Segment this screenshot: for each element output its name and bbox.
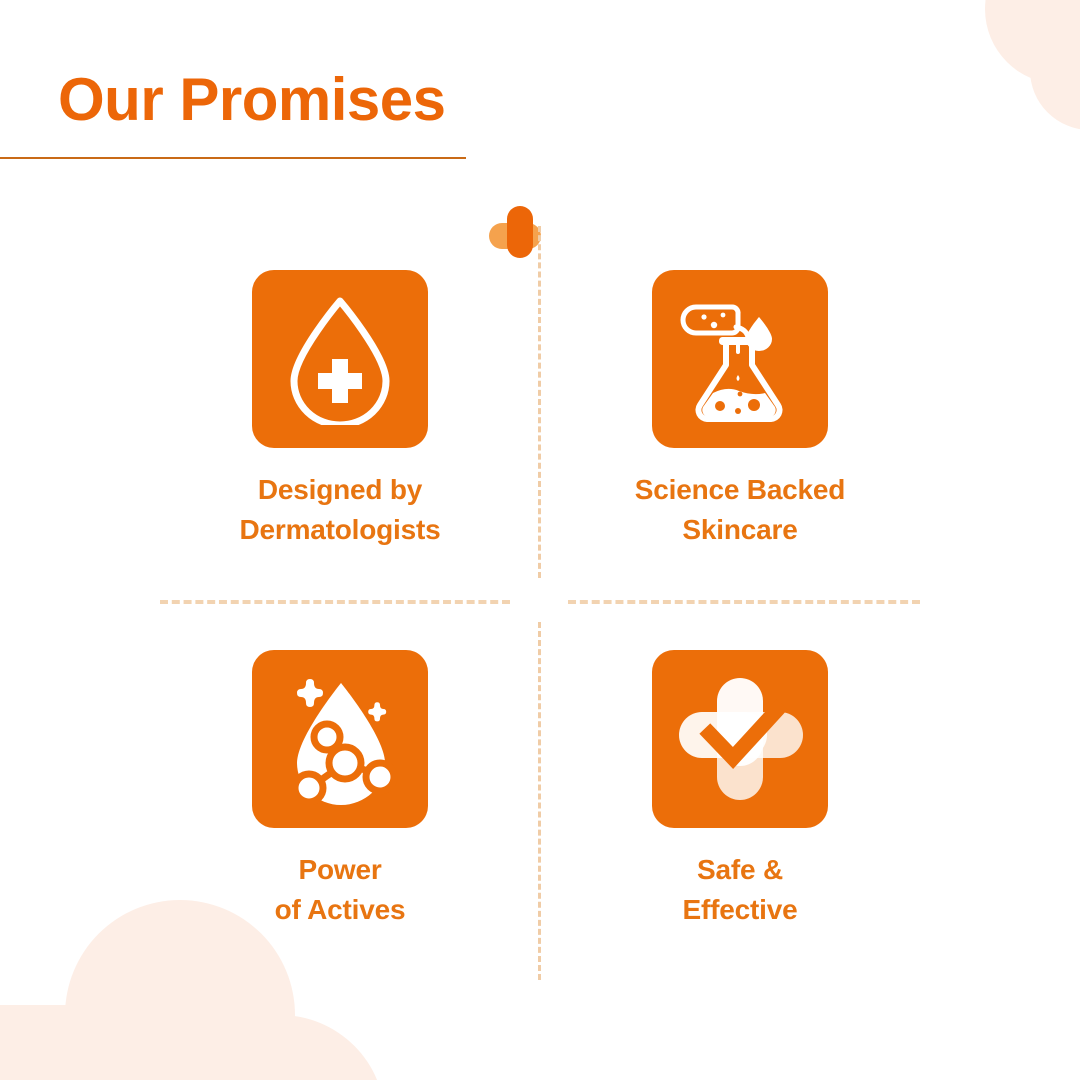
promise-label-line-2: of Actives	[140, 890, 540, 930]
decorative-blob-bottom-left-2	[0, 1025, 140, 1080]
promise-item-power-of-actives: Power of Actives	[140, 650, 540, 930]
flask-test-tube-icon	[676, 293, 804, 425]
decorative-blob-top-right-2	[1030, 10, 1080, 130]
promise-label-line-1: Safe &	[540, 850, 940, 890]
promise-icon-tile	[252, 650, 428, 828]
divider-horizontal-left	[160, 600, 510, 604]
promise-item-science-backed-skincare: Science Backed Skincare	[540, 270, 940, 550]
droplet-molecule-icon	[275, 673, 405, 805]
promise-label: Science Backed Skincare	[540, 470, 940, 550]
cross-checkmark-icon	[677, 676, 803, 802]
promise-label: Designed by Dermatologists	[140, 470, 540, 550]
promise-item-designed-by-dermatologists: Designed by Dermatologists	[140, 270, 540, 550]
promise-label: Power of Actives	[140, 850, 540, 930]
promise-label-line-1: Science Backed	[540, 470, 940, 510]
decorative-blob-bottom-left-4	[0, 1005, 180, 1080]
promise-label: Safe & Effective	[540, 850, 940, 930]
promise-label-line-2: Effective	[540, 890, 940, 930]
promise-icon-tile	[652, 270, 828, 448]
promise-label-line-2: Skincare	[540, 510, 940, 550]
decorative-blob-top-right	[985, 0, 1080, 84]
promise-icon-tile	[252, 270, 428, 448]
plus-decoration-icon	[489, 206, 545, 262]
decorative-blob-bottom-left-3	[175, 1015, 385, 1080]
plus-vertical-bar	[507, 206, 533, 258]
page-title: Our Promises	[58, 70, 446, 130]
promise-label-line-1: Designed by	[140, 470, 540, 510]
promise-label-line-1: Power	[140, 850, 540, 890]
promise-item-safe-and-effective: Safe & Effective	[540, 650, 940, 930]
title-underline	[0, 157, 466, 159]
promise-icon-tile	[652, 650, 828, 828]
promise-label-line-2: Dermatologists	[140, 510, 540, 550]
divider-horizontal-right	[568, 600, 920, 604]
promises-infographic: Our Promises Designed by Dermat	[0, 0, 1080, 1080]
droplet-plus-icon	[280, 293, 400, 425]
